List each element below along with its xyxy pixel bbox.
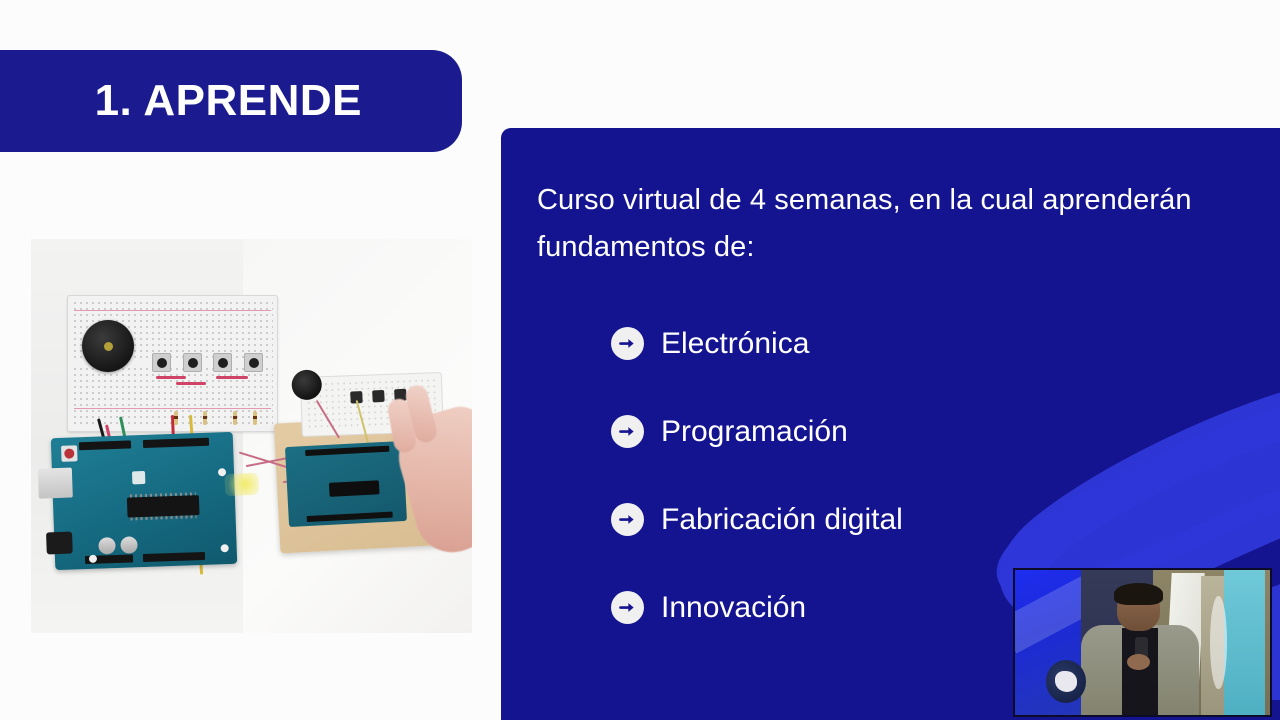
presenter-webcam-feed[interactable] [1013, 568, 1272, 717]
arduino-mount-hole-1 [218, 468, 226, 476]
resistor-1 [174, 411, 178, 425]
presenter-hair [1114, 583, 1162, 605]
resistor-2 [203, 411, 207, 425]
photo-backdrop [31, 239, 472, 633]
arduino-board-illustration [51, 432, 237, 570]
pushbutton-2 [183, 353, 202, 372]
arduino-logo-mark [132, 471, 145, 484]
kit-board-header-bottom [307, 512, 393, 522]
breadboard-power-rail-top [74, 310, 271, 311]
arrow-right-circle-icon [611, 591, 644, 624]
arrow-right-circle-icon [611, 415, 644, 448]
pushbutton-4 [244, 353, 263, 372]
kit-pushbutton-2 [372, 390, 385, 403]
page-title: 1. APRENDE [95, 79, 362, 123]
jumper-wire-red-3 [216, 376, 248, 379]
list-item-label: Electrónica [661, 329, 809, 359]
kit-board-header-top [305, 446, 389, 456]
breadboard-illustration [67, 295, 278, 432]
slide-root: 1. APRENDE [0, 0, 1280, 720]
list-item-label: Innovación [661, 593, 806, 623]
arduino-reset-button [61, 445, 78, 462]
jumper-wire-red-1 [156, 376, 186, 379]
kit-board-chip [329, 480, 380, 497]
pushbutton-3 [213, 353, 232, 372]
buzzer-component [82, 320, 134, 372]
presenter-hand [1127, 654, 1150, 670]
kit-led-glow [224, 473, 259, 497]
jumper-wire-red-2 [176, 382, 206, 385]
arrow-right-circle-icon [611, 503, 644, 536]
arduino-header-top-left [79, 440, 131, 450]
arduino-power-jack [46, 532, 73, 555]
breadboard-power-rail-bottom [74, 408, 271, 409]
panel-lead-text: Curso virtual de 4 semanas, en la cual a… [537, 177, 1237, 271]
arduino-usb-port [38, 467, 73, 498]
flag-guatemala [1224, 570, 1265, 715]
list-item-label: Programación [661, 417, 848, 447]
arduino-mount-hole-2 [221, 544, 229, 552]
arduino-header-top-right [143, 438, 209, 448]
arduino-capacitor-2 [120, 536, 138, 554]
arduino-capacitor-1 [98, 537, 116, 555]
arrow-right-circle-icon [611, 327, 644, 360]
list-item: Electrónica [537, 300, 1260, 388]
arduino-header-bottom-right [143, 552, 205, 562]
kit-arduino-board [285, 441, 407, 527]
arduino-microcontroller-chip [127, 495, 200, 518]
list-item: Programación [537, 388, 1260, 476]
resistor-3 [233, 411, 237, 425]
pushbutton-1 [152, 353, 171, 372]
arduino-breadboard-photo [31, 239, 472, 633]
resistor-4 [253, 411, 257, 425]
slide-title-banner: 1. APRENDE [0, 50, 462, 152]
list-item-label: Fabricación digital [661, 505, 903, 535]
list-item: Fabricación digital [537, 476, 1260, 564]
